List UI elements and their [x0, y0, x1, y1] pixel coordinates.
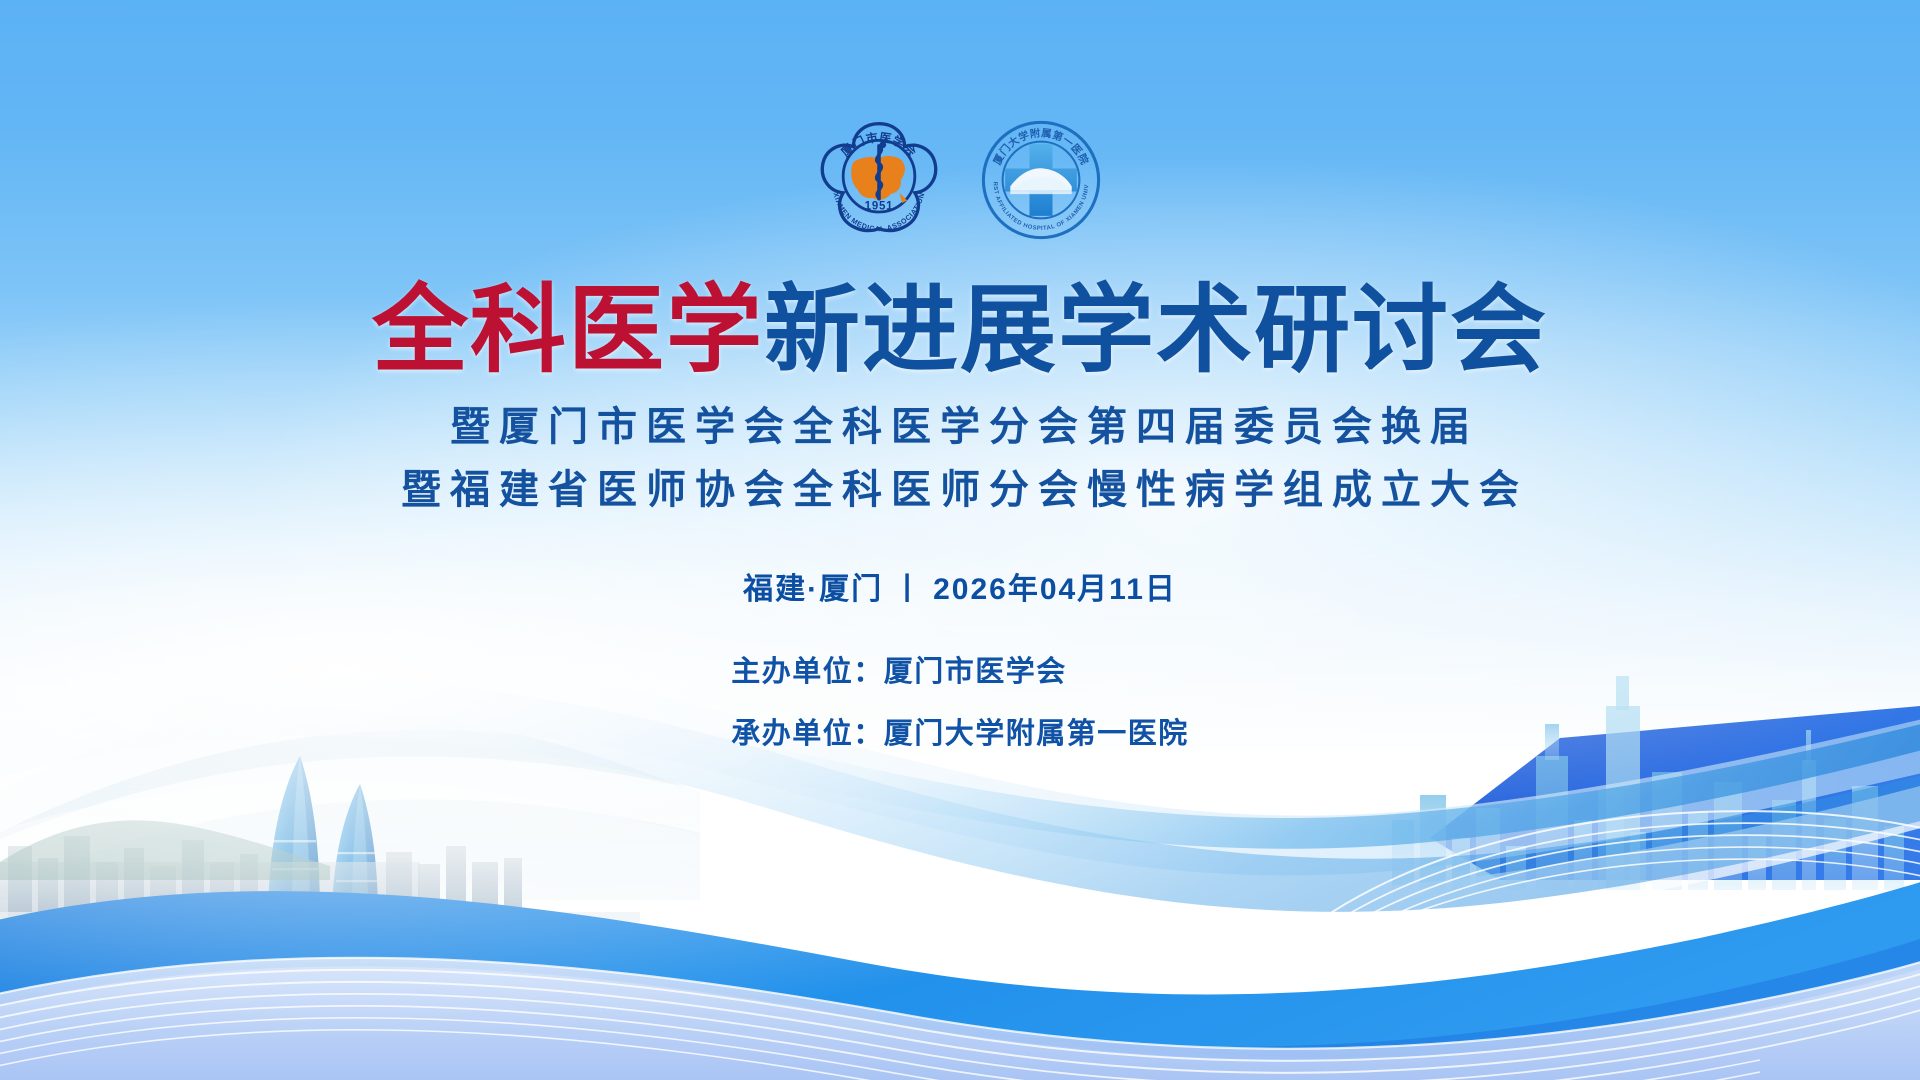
co-organizer-label: 承办单位：: [731, 718, 884, 750]
title-red-part: 全科医学: [372, 273, 764, 386]
location-date-line: 福建·厦门丨2026年04月11日: [743, 564, 1177, 608]
title-blue-part: 新进展学术研讨会: [764, 273, 1548, 386]
meta-separator: 丨: [883, 564, 933, 608]
host-organization: 主办单位：厦门市医学会: [731, 648, 1067, 690]
logo-row: 厦门市医学会 XIAMEN MEDICAL ASSOCIATION 1951: [815, 116, 1105, 244]
organizer-block: 主办单位：厦门市医学会 承办单位：厦门大学附属第一医院: [731, 648, 1189, 752]
logo1-year: 1951: [865, 200, 894, 212]
date-text: 2026年04月11日: [933, 573, 1177, 606]
location-text: 福建·厦门: [743, 573, 883, 606]
conference-banner: 厦门市医学会 XIAMEN MEDICAL ASSOCIATION 1951: [0, 0, 1920, 1080]
host-label: 主办单位：: [731, 656, 884, 688]
co-organizer: 承办单位：厦门大学附属第一医院: [731, 710, 1189, 752]
host-name: 厦门市医学会: [884, 656, 1067, 688]
co-organizer-name: 厦门大学附属第一医院: [884, 718, 1189, 750]
first-affiliated-hospital-xiamen-university-logo: 厦门大学附属第一医院 THE FIRST AFFILIATED HOSPITAL…: [977, 116, 1105, 244]
subtitle-line-1: 暨厦门市医学会全科医学分会第四届委员会换届: [441, 398, 1479, 457]
xiamen-medical-association-logo: 厦门市医学会 XIAMEN MEDICAL ASSOCIATION 1951: [815, 116, 943, 244]
main-title: 全科医学新进展学术研讨会: [372, 280, 1548, 380]
subtitle-line-2: 暨福建省医师协会全科医师分会慢性病学组成立大会: [392, 461, 1528, 520]
